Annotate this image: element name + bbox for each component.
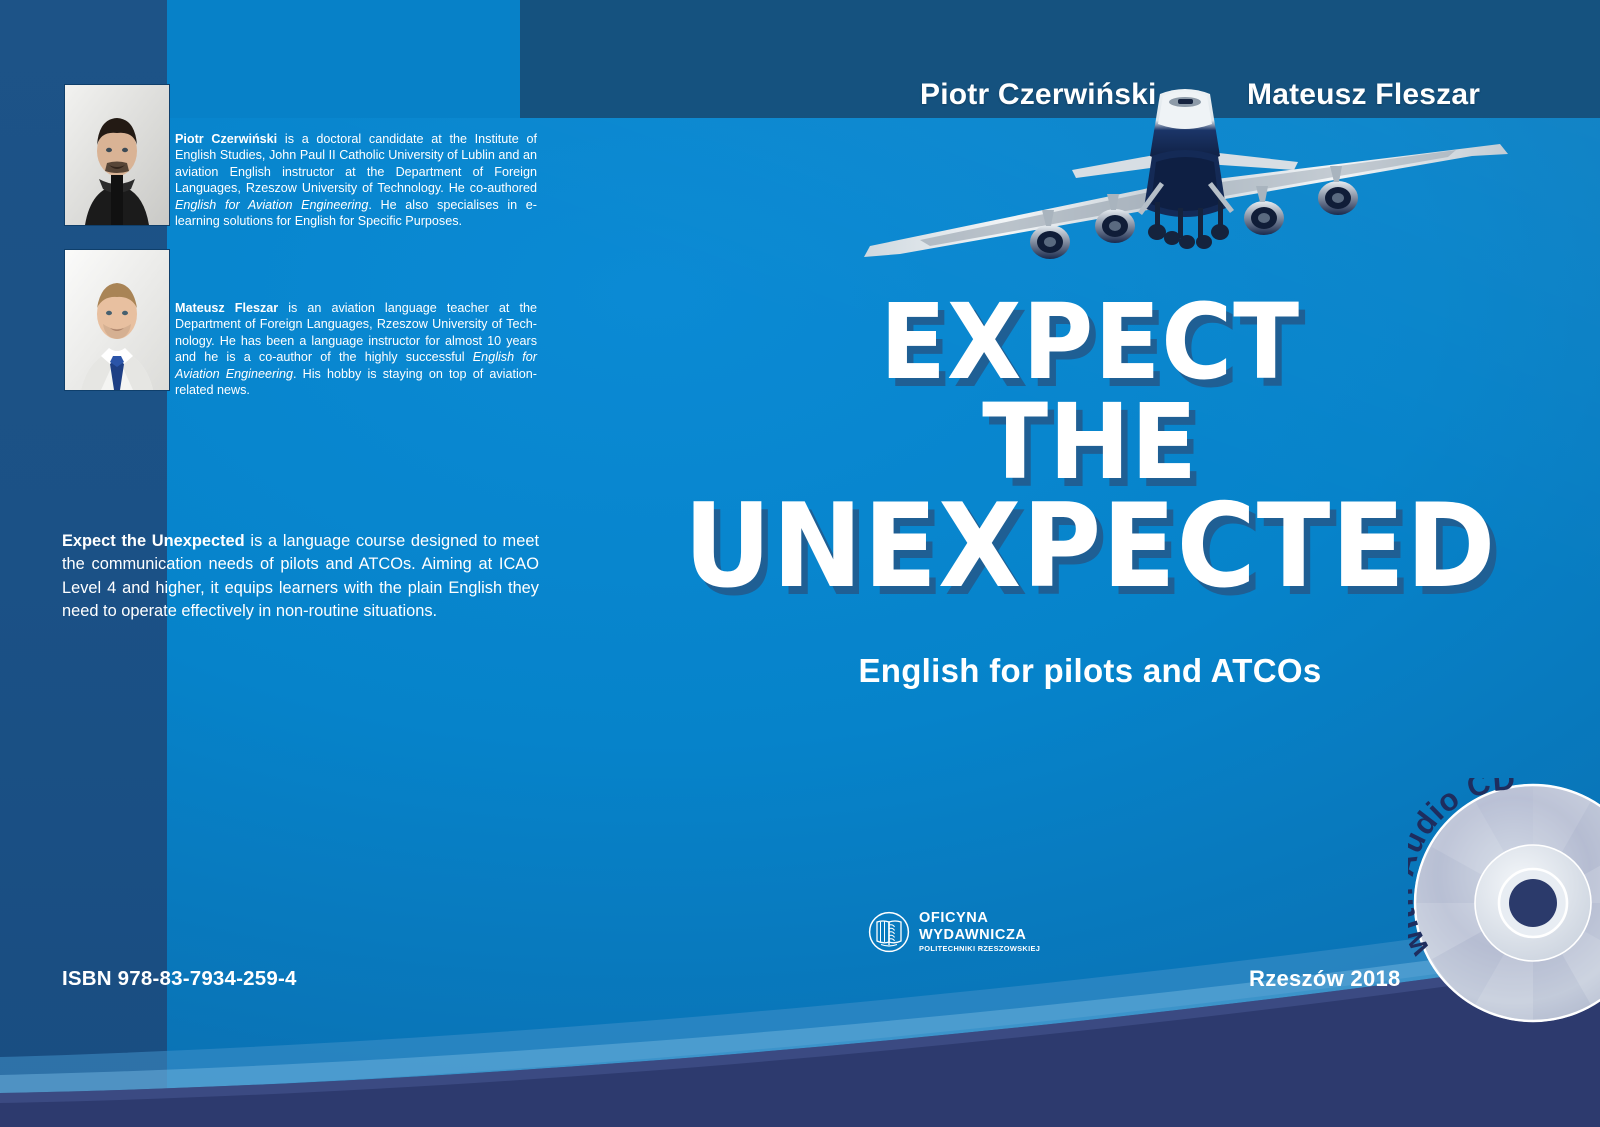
publisher-line-3: POLITECHNIKI RZESZOWSKIEJ [919,945,1040,952]
airplane-747-landing-photo [860,86,1510,286]
spine-top-fill [167,0,520,118]
publisher-name: OFICYNA WYDAWNICZA POLITECHNIKI RZESZOWS… [919,911,1040,952]
book-subtitle: English for pilots and ATCOs [640,652,1540,690]
title-line-3: UNEXPECTED [672,494,1509,601]
book-blurb: Expect the Unexpected is a language cour… [62,530,539,623]
title-line-2: THE [672,395,1509,491]
cover-author-name-2: Mateusz Fleszar [1247,78,1480,112]
bio-author-name-1: Piotr Czerwiński [175,132,277,146]
bottom-wave-decoration [0,907,1600,1127]
audio-cd-badge: with Audio CD [1408,778,1600,1028]
title-line-1: EXPECT [672,295,1509,391]
portrait-piotr-czerwinski [64,84,170,226]
bio-piotr-czerwinski: Piotr Czerwiński is a doctoral candidate… [175,131,537,230]
book-title: EXPECT THE UNEXPECTED [640,295,1540,601]
wheat-book-emblem-icon [868,911,910,953]
bio-author-name-2: Mateusz Fleszar [175,301,278,315]
publisher-line-1: OFICYNA [919,911,1040,926]
bio-italic-title-1: English for Aviation Engineering [175,198,368,212]
place-year-text: Rzeszów 2018 [1249,966,1401,992]
cover-author-name-1: Piotr Czerwiński [920,78,1157,112]
bio-mateusz-fleszar: Mateusz Fleszar is an aviation language … [175,300,537,399]
publisher-logo: OFICYNA WYDAWNICZA POLITECHNIKI RZESZOWS… [868,911,1040,953]
portrait-mateusz-fleszar [64,249,170,391]
publisher-line-2: WYDAWNICZA [919,928,1040,943]
blurb-title: Expect the Unexpected [62,532,245,550]
book-cover: Piotr Czerwiński Mateusz Fleszar EXPECT … [0,0,1600,1127]
